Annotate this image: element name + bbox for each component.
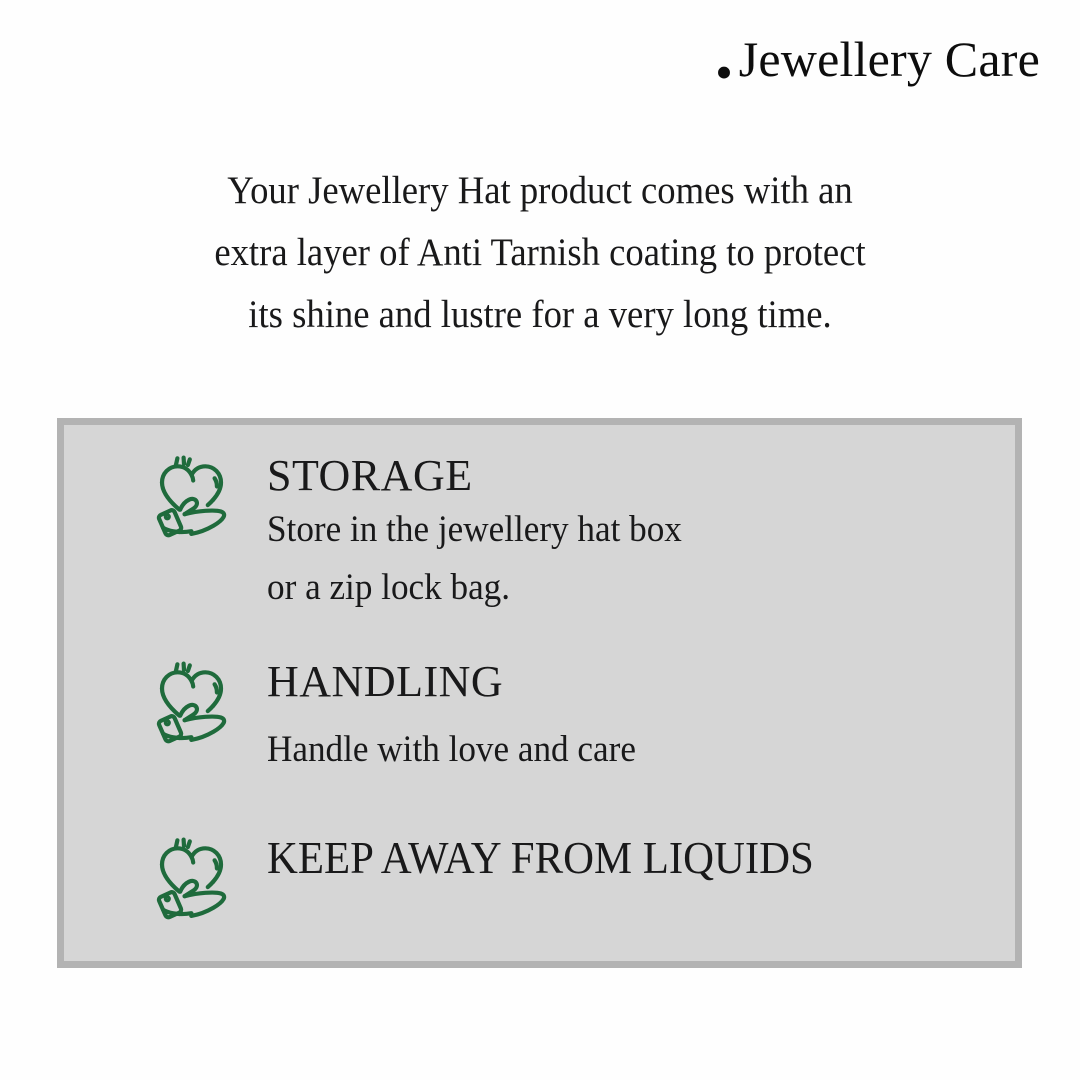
hand-holding-heart-icon (144, 653, 248, 757)
care-item-storage: STORAGE Store in the jewellery hat box o… (144, 447, 704, 617)
care-item-text: KEEP AWAY FROM LIQUIDS (267, 829, 855, 883)
intro-line-2: extra layer of Anti Tarnish coating to p… (89, 222, 991, 284)
intro-line-1: Your Jewellery Hat product comes with an (89, 160, 991, 222)
care-item-description-line: Handle with love and care (267, 721, 636, 779)
care-item-text: STORAGE Store in the jewellery hat box o… (267, 447, 704, 617)
care-item-heading: STORAGE (267, 451, 704, 501)
care-item-heading: KEEP AWAY FROM LIQUIDS (267, 833, 814, 883)
intro-line-3: its shine and lustre for a very long tim… (89, 284, 991, 346)
care-instructions-list: STORAGE Store in the jewellery hat box o… (64, 425, 1015, 961)
hand-holding-heart-icon (144, 829, 248, 933)
care-item-heading: HANDLING (267, 657, 655, 707)
jewellery-care-page: • Jewellery Care Your Jewellery Hat prod… (0, 0, 1080, 1080)
care-item-text: HANDLING Handle with love and care (267, 653, 655, 779)
care-instructions-box: STORAGE Store in the jewellery hat box o… (57, 418, 1022, 968)
care-item-keep-away-from-liquids: KEEP AWAY FROM LIQUIDS (144, 829, 855, 933)
title-bullet-icon: • (715, 47, 733, 97)
page-title: • Jewellery Care (0, 32, 1040, 97)
care-item-description-line: Store in the jewellery hat box (267, 501, 682, 559)
care-item-description-line: or a zip lock bag. (267, 559, 682, 617)
care-item-description: Handle with love and care (267, 721, 636, 779)
care-item-handling: HANDLING Handle with love and care (144, 653, 655, 779)
hand-holding-heart-icon (144, 447, 248, 551)
care-item-description: Store in the jewellery hat box or a zip … (267, 501, 682, 617)
intro-paragraph: Your Jewellery Hat product comes with an… (89, 160, 991, 346)
page-title-text: Jewellery Care (739, 31, 1040, 87)
